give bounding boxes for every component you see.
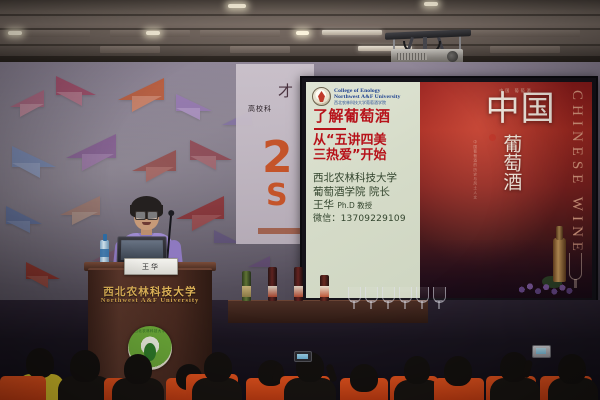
wine-glass [416,287,429,303]
audience-head [204,352,232,382]
presenter-college-role: 葡萄酒学院 院长 [313,186,416,199]
projector-vent [397,53,427,60]
presenter-degree: Ph.D 教授 [337,201,372,210]
wine-bottle [268,267,277,301]
crest-text: College of Enology Northwest A&F Univers… [334,87,401,105]
slide-subtitle-line2: 三热爱”开始 [313,148,416,163]
water-bottle [100,240,109,264]
ceiling-panel [230,46,290,53]
poster-bottle-icon [553,238,566,282]
presenter-name: 王华 [313,199,334,211]
slide-subtitle-line1: 从“五讲四美 [313,133,416,148]
wine-bottle [294,267,303,301]
bottle-label [294,286,303,297]
ceiling-panel [200,30,280,37]
college-crest: College of Enology Northwest A&F Univers… [312,87,416,106]
wine-display-table [228,300,428,323]
digital-camera-icon [532,345,551,358]
poster-grapes-icon [516,280,574,296]
poster-wineglass-icon [569,253,582,280]
audience-head [350,364,378,392]
eyeglasses-icon [135,211,158,218]
banner-letter: S [266,178,288,213]
phone-camera-icon [294,351,312,362]
audience-head [558,354,586,384]
audience-head [26,348,54,378]
presentation-slide: College of Enology Northwest A&F Univers… [306,82,592,298]
podium-university-en: Northwest A&F University [88,297,212,304]
bottle-label [320,286,329,297]
presenter-wechat: 微信：13709229109 [313,213,416,225]
ceiling-beam [0,14,600,16]
presenter-university: 西北农林科技大学 [313,172,416,185]
audience-head [444,356,472,386]
poster-title-cn: 中国 [486,94,556,125]
bottle-label [268,286,277,297]
poster-vertical-caption: 中国葡萄酒的历史与风土人文 [472,140,479,206]
ceiling-panel [100,46,160,53]
audience [0,330,600,400]
ceiling-panel [20,30,90,37]
wine-glass [365,287,378,303]
wine-glass [433,287,446,303]
poster-seal-icon [489,134,496,141]
crest-seal-icon [312,87,331,106]
banner-mark: 才 [278,80,293,101]
audience-head [124,354,152,384]
wine-glass-row [348,277,438,303]
bottle-label [242,286,251,297]
wine-glass [382,287,395,303]
ceiling-panel [470,30,580,37]
audience-head [404,356,430,384]
banner-big-number: 2 [262,140,291,176]
audience-head [70,350,100,382]
ceiling-light-strip [322,30,382,35]
speaker-nameplate: 王华 [124,258,178,275]
slide-divider [314,128,346,130]
poster-title-en: CHINESE WINE [568,90,585,260]
crest-line3: 西北农林科技大学葡萄酒学院 [334,101,401,105]
lecture-hall-photo: 才 高校科 2 S College of Enology Northwest A… [0,0,600,400]
ceiling-light [296,31,309,35]
projector-lens-icon [447,51,458,62]
slide-title: 了解葡萄酒 [313,109,416,125]
ceiling-light [228,4,246,8]
seat [0,376,46,400]
slide-presenter-info: 西北农林科技大学 葡萄酒学院 院长 王华 Ph.D 教授 微信：13709229… [313,172,416,225]
slide-poster-panel: 中国 葡萄酒 中国 葡萄酒 中国葡萄酒的历史与风土人文 CHINESE WINE [420,82,592,298]
ceiling-light [8,31,22,35]
wine-bottle [320,275,329,301]
wine-glass [348,287,361,303]
ceiling-light [424,2,438,6]
wine-bottle [242,271,251,301]
projection-screen: College of Enology Northwest A&F Univers… [300,76,598,304]
banner-chinese-text: 高校科 [248,104,272,114]
ceiling-panel [490,46,560,53]
ceiling-light [146,31,160,35]
wine-glass [399,287,412,303]
presenter-name-line: 王华 Ph.D 教授 [313,199,416,213]
poster-subtitle-cn: 葡萄酒 [501,134,520,191]
